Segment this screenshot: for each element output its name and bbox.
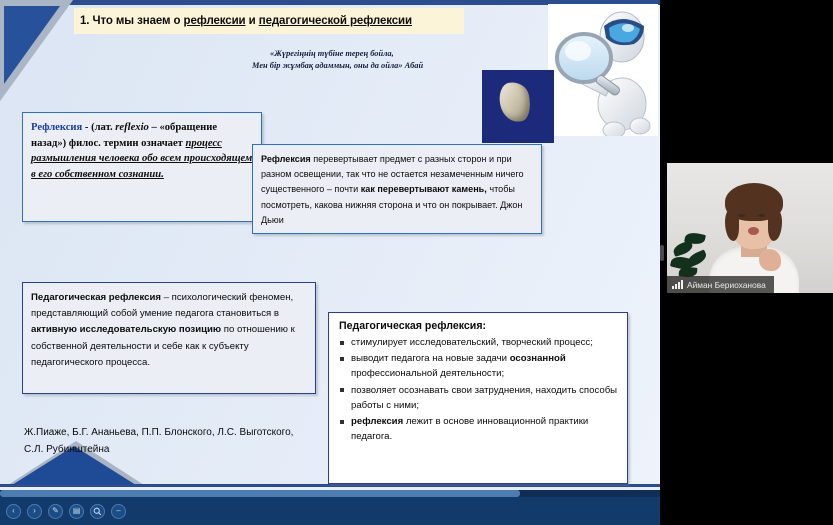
title-keyword-reflexia: рефлексии bbox=[184, 15, 246, 27]
participant-name: Айман Бериоханова bbox=[687, 280, 766, 290]
slide-title-banner: 1. Что мы знаем о рефлексии и педагогиче… bbox=[74, 8, 464, 34]
term-pedagogical-reflexia: Педагогическая рефлексия bbox=[31, 292, 161, 303]
stone-image-box bbox=[482, 70, 554, 143]
title-keyword-ped-reflexia: педагогической рефлексии bbox=[259, 15, 412, 27]
definition-box-pedagogical-reflexia: Педагогическая рефлексия – психологическ… bbox=[22, 282, 316, 394]
person-mouth bbox=[748, 227, 759, 235]
dewey-quote-text: Рефлексия перевертывает предмет с разных… bbox=[261, 152, 533, 228]
bullet-list-box: Педагогическая рефлексия: стимулирует ис… bbox=[328, 312, 628, 484]
pen-tool-button[interactable]: ✎ bbox=[48, 504, 63, 519]
scrollbar-thumb[interactable] bbox=[0, 490, 520, 497]
person-hair bbox=[725, 183, 783, 221]
list-item: рефлексия лежит в основе инновационной п… bbox=[337, 414, 619, 444]
list-item: стимулирует исследовательский, творчески… bbox=[337, 335, 619, 350]
prev-slide-button[interactable]: ‹ bbox=[6, 504, 21, 519]
pedagogical-definition-text: Педагогическая рефлексия – психологическ… bbox=[31, 290, 307, 371]
meeting-screen: 1. Что мы знаем о рефлексии и педагогиче… bbox=[0, 0, 833, 525]
epigraph-line-1: «Жүрегіңнің түбіне терең бойла, bbox=[252, 48, 522, 60]
term-reflexia: Рефлексия bbox=[31, 122, 82, 133]
participant-name-chip: Айман Бериоханова bbox=[667, 276, 774, 293]
page-title: 1. Что мы знаем о рефлексии и педагогиче… bbox=[80, 15, 412, 27]
magnifier-icon bbox=[93, 507, 102, 516]
dewey-emphasis: как перевертывают камень, bbox=[361, 184, 487, 194]
bullet-list: стимулирует исследовательский, творчески… bbox=[337, 335, 619, 444]
zoom-tool-button[interactable] bbox=[90, 504, 105, 519]
minimize-button[interactable]: – bbox=[111, 504, 126, 519]
authors-list: Ж.Пиаже, Б.Г. Ананьева, П.П. Блонского, … bbox=[24, 424, 294, 458]
pedagogical-emphasis: активную исследовательскую позицию bbox=[31, 324, 221, 335]
quote-box-dewey: Рефлексия перевертывает предмет с разных… bbox=[252, 144, 542, 234]
definition-text: Рефлексия - (лат. reflexio – «обращение … bbox=[31, 120, 253, 182]
signal-strength-icon bbox=[672, 280, 683, 289]
definition-box-reflexia: Рефлексия - (лат. reflexio – «обращение … bbox=[22, 112, 262, 222]
notes-button[interactable]: ▤ bbox=[69, 504, 84, 519]
epigraph-quote: «Жүрегіңнің түбіне терең бойла, Мен бір … bbox=[252, 48, 522, 72]
person-eye-left bbox=[738, 214, 745, 217]
bullet-list-heading: Педагогическая рефлексия: bbox=[339, 320, 619, 332]
presentation-toolbar[interactable]: ‹ › ✎ ▤ – bbox=[0, 497, 660, 525]
stone-icon bbox=[496, 79, 534, 124]
participant-video-tile[interactable]: Айман Бериоханова bbox=[667, 163, 833, 293]
list-item: позволяет осознавать свои затруднения, н… bbox=[337, 383, 619, 413]
corner-triangle-icon bbox=[4, 6, 60, 84]
next-slide-button[interactable]: › bbox=[27, 504, 42, 519]
participant-filmstrip: Айман Бериоханова bbox=[660, 0, 833, 525]
person-eye-right bbox=[758, 214, 765, 217]
latin-term: reflexio bbox=[115, 122, 149, 133]
plant-decor-icon bbox=[671, 227, 711, 279]
person-with-magnifying-glass-icon bbox=[548, 4, 658, 136]
list-item: выводит педагога на новые задачи осознан… bbox=[337, 351, 619, 381]
panel-drag-handle[interactable] bbox=[660, 245, 664, 261]
shared-screen-region[interactable]: 1. Что мы знаем о рефлексии и педагогиче… bbox=[0, 0, 660, 497]
slide-bottom-rule bbox=[0, 484, 660, 487]
term-reflexia-dewey: Рефлексия bbox=[261, 154, 311, 164]
horizontal-scrollbar[interactable] bbox=[0, 490, 660, 497]
magnifying-glass-person-illustration bbox=[548, 4, 658, 136]
person-hand bbox=[759, 249, 781, 271]
